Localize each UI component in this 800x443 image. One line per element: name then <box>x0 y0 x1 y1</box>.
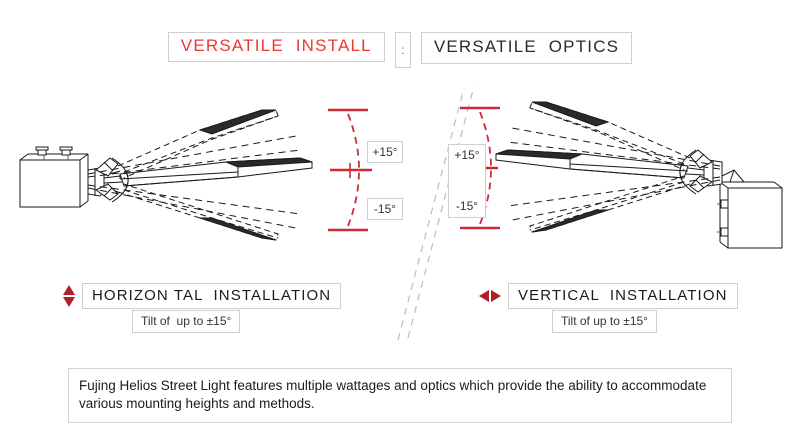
angle-label-down-right: -15° <box>449 199 485 213</box>
caption-vertical-subtitle: Tilt of up to ±15° <box>552 310 657 333</box>
header-versatile-install: VERSATILE INSTALL <box>168 32 385 62</box>
header-row: VERSATILE INSTALL : VERSATILE OPTICS <box>0 32 800 68</box>
angle-label-up-left: +15° <box>367 141 403 163</box>
caption-vertical-title: VERTICAL INSTALLATION <box>508 283 738 309</box>
pole-mount-box <box>20 147 88 207</box>
infographic-root: VERSATILE INSTALL : VERSATILE OPTICS <box>0 0 800 443</box>
caption-horizontal-subtitle: Tilt of up to ±15° <box>132 310 240 333</box>
diagram-horizontal <box>0 78 400 263</box>
angle-label-stack-right: +15° -15° <box>448 144 486 218</box>
angle-label-up-right: +15° <box>449 148 485 162</box>
angle-label-down-left: -15° <box>367 198 403 220</box>
left-right-arrow-icon <box>478 288 502 304</box>
header-versatile-optics: VERSATILE OPTICS <box>421 32 632 64</box>
description-box: Fujing Helios Street Light features mult… <box>68 368 732 423</box>
pole-mount-box-vertical <box>717 170 782 248</box>
caption-vertical: VERTICAL INSTALLATION <box>478 283 738 309</box>
caption-horizontal: HORIZON TAL INSTALLATION <box>62 283 341 309</box>
up-down-arrow-icon <box>62 284 76 308</box>
caption-horizontal-title: HORIZON TAL INSTALLATION <box>82 283 341 309</box>
angle-indicator-left <box>328 110 372 230</box>
header-separator: : <box>395 32 411 68</box>
